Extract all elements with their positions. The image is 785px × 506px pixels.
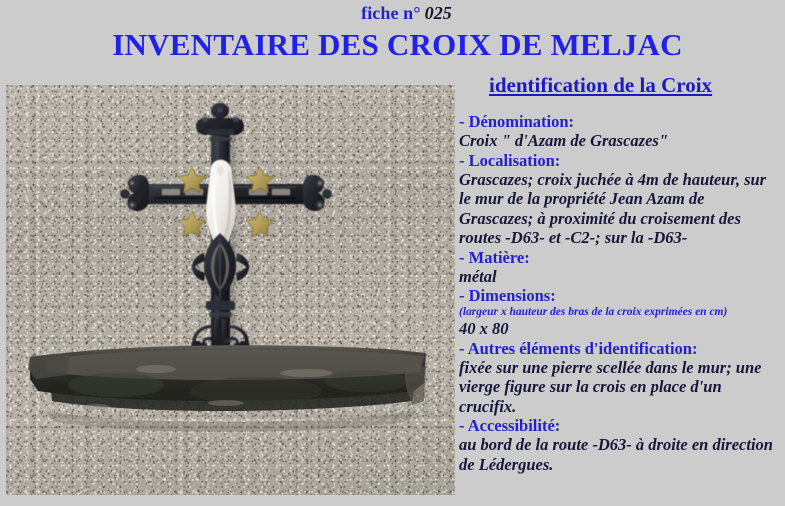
field-value-localisation: Grascazes; croix juchée à 4m de hauteur,… (459, 170, 781, 248)
page-title: INVENTAIRE DES CROIX DE MELJAC (0, 27, 785, 63)
field-dimensions: - Dimensions: (largeur x hauteur des bra… (459, 286, 781, 339)
field-value-dimensions: 40 x 80 (459, 319, 781, 339)
field-localisation: - Localisation: Grascazes; croix juchée … (459, 151, 781, 248)
field-accessibilite: - Accessibilité: au bord de la route -D6… (459, 416, 781, 474)
croix-inventory-fiche: { "header": { "fiche_label": "fiche n°",… (0, 0, 785, 506)
field-denomination: - Dénomination: Croix " d'Azam de Grasca… (459, 112, 781, 151)
fiche-number-line: fiche n°025 (0, 3, 785, 24)
section-heading-identification: identification de la Croix (489, 73, 712, 98)
field-matiere: - Matière: métal (459, 248, 781, 287)
iron-cross-illustration (6, 85, 455, 495)
field-label-dimensions: - Dimensions: (459, 286, 781, 305)
field-value-accessibilite: au bord de la route -D63- à droite en di… (459, 435, 781, 474)
field-label-matiere: - Matière: (459, 248, 781, 267)
fiche-number: 025 (421, 3, 452, 23)
field-value-denomination: Croix " d'Azam de Grascazes" (459, 131, 781, 151)
field-label-denomination: - Dénomination: (459, 112, 781, 131)
field-label-autres-elements: - Autres éléments d'identification: (459, 339, 781, 358)
field-value-matiere: métal (459, 267, 781, 287)
stone-slab-shape (28, 345, 426, 432)
field-note-dimensions: (largeur x hauteur des bras de la croix … (459, 305, 781, 319)
field-label-accessibilite: - Accessibilité: (459, 416, 781, 435)
fiche-label: fiche n° (361, 3, 421, 23)
cross-photograph (6, 85, 455, 495)
field-label-localisation: - Localisation: (459, 151, 781, 170)
identification-panel: - Dénomination: Croix " d'Azam de Grasca… (459, 112, 781, 474)
field-autres-elements: - Autres éléments d'identification: fixé… (459, 339, 781, 417)
field-value-autres-elements: fixée sur une pierre scellée dans le mur… (459, 358, 781, 417)
